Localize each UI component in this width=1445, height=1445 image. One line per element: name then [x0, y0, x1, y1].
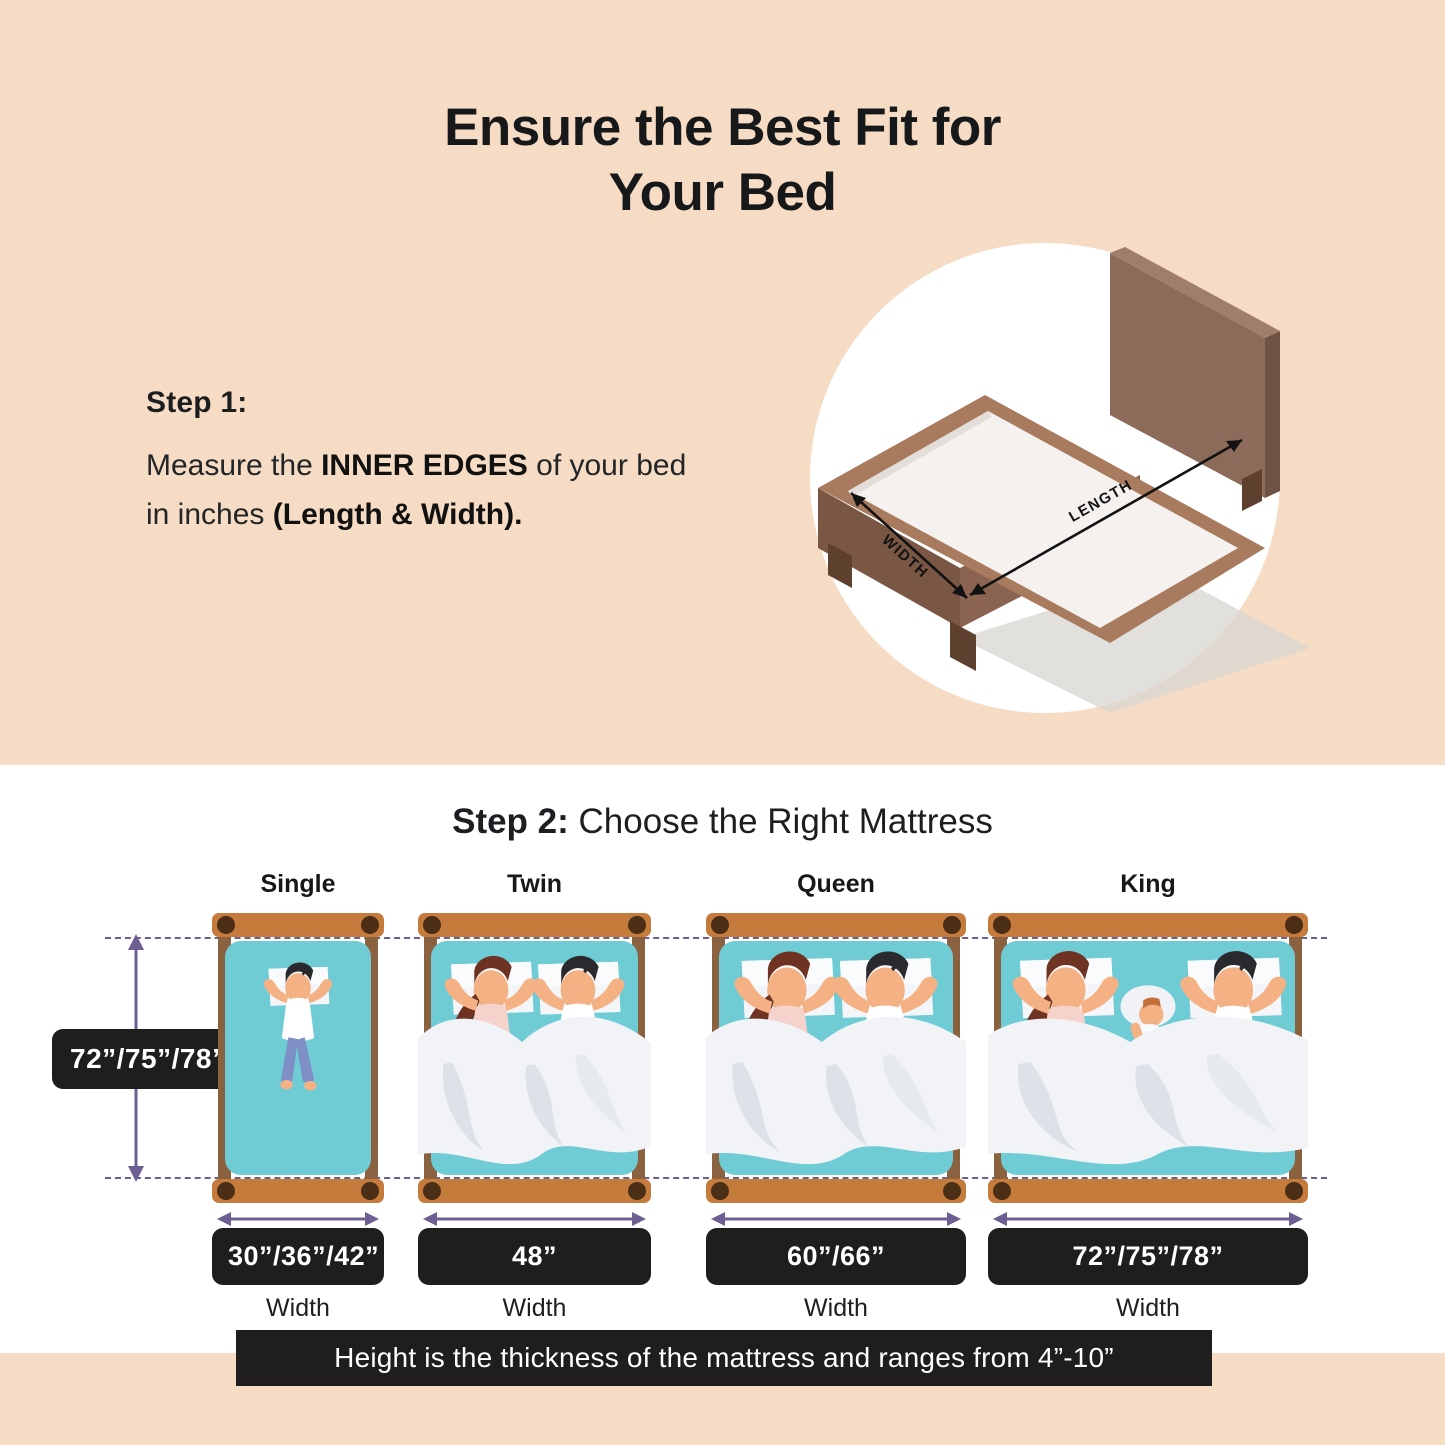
mattress-comparison-row: Single — [0, 870, 1445, 1200]
isometric-bed-svg: LENGTH WIDTH — [810, 243, 1320, 713]
width-badge-twin: 48” — [418, 1228, 651, 1285]
width-caption-king: Width — [988, 1294, 1308, 1323]
infographic-page: Ensure the Best Fit for Your Bed Step 1:… — [0, 0, 1445, 1445]
bed-bolt-top-right — [628, 916, 646, 934]
step1-bold-inner-edges: INNER EDGES — [321, 449, 528, 482]
step1-label: Step 1: — [146, 386, 247, 420]
bed-illustration: LENGTH WIDTH — [810, 243, 1320, 713]
bed-size-label-single: Single — [212, 870, 384, 899]
width-caption-twin: Width — [418, 1294, 651, 1323]
step2-title: Choose the Right Mattress — [569, 802, 993, 841]
bed-bolt-bottom-right — [361, 1182, 379, 1200]
width-badge-queen: 60”/66” — [706, 1228, 966, 1285]
bed-bolt-bottom-right — [943, 1182, 961, 1200]
bed-bolt-bottom-left — [993, 1182, 1011, 1200]
bed-bolt-top-left — [423, 916, 441, 934]
bed-size-label-queen: Queen — [706, 870, 966, 899]
bed-bolt-bottom-left — [423, 1182, 441, 1200]
bed-diagram-king — [988, 913, 1308, 1203]
bed-bolt-top-left — [993, 916, 1011, 934]
bed-rail-top — [418, 913, 651, 937]
bed-rail-bottom — [418, 1179, 651, 1203]
bed-rail-top — [212, 913, 384, 937]
page-title: Ensure the Best Fit for Your Bed — [0, 96, 1445, 225]
bed-size-label-king: King — [988, 870, 1308, 899]
bed-bolt-top-left — [711, 916, 729, 934]
bed-rail-bottom — [988, 1179, 1308, 1203]
bed-diagram-queen — [706, 913, 966, 1203]
step1-description: Measure the INNER EDGES of your bed in i… — [146, 442, 706, 539]
footer-note-badge: Height is the thickness of the mattress … — [236, 1330, 1212, 1386]
bed-bolt-bottom-right — [1285, 1182, 1303, 1200]
bed-diagram-twin — [418, 913, 651, 1203]
bed-rail-bottom — [706, 1179, 966, 1203]
bed-bolt-top-left — [217, 916, 235, 934]
bed-bolt-bottom-left — [711, 1182, 729, 1200]
width-caption-queen: Width — [706, 1294, 966, 1323]
width-badge-single: 30”/36”/42” — [212, 1228, 384, 1285]
title-line-1: Ensure the Best Fit for — [0, 96, 1445, 161]
footer-note-text: Height is the thickness of the mattress … — [334, 1342, 1114, 1374]
bed-rail-top — [706, 913, 966, 937]
step2-heading: Step 2: Choose the Right Mattress — [0, 802, 1445, 842]
bed-bolt-top-right — [1285, 916, 1303, 934]
bed-bolt-bottom-right — [628, 1182, 646, 1200]
step2-label: Step 2: — [452, 802, 569, 841]
bed-rail-top — [988, 913, 1308, 937]
width-caption-single: Width — [212, 1294, 384, 1323]
duvet-blanket — [418, 1017, 651, 1164]
duvet-blanket — [706, 1017, 966, 1164]
bed-bolt-bottom-left — [217, 1182, 235, 1200]
step1-text-1: Measure the — [146, 449, 321, 482]
step1-bold-length-width: (Length & Width). — [273, 498, 523, 531]
bed-rail-bottom — [212, 1179, 384, 1203]
bed-diagram-single — [212, 913, 384, 1203]
bed-size-label-twin: Twin — [418, 870, 651, 899]
bed-bolt-top-right — [361, 916, 379, 934]
title-line-2: Your Bed — [0, 161, 1445, 226]
width-badge-king: 72”/75”/78” — [988, 1228, 1308, 1285]
duvet-blanket — [988, 1017, 1308, 1164]
bed-bolt-top-right — [943, 916, 961, 934]
